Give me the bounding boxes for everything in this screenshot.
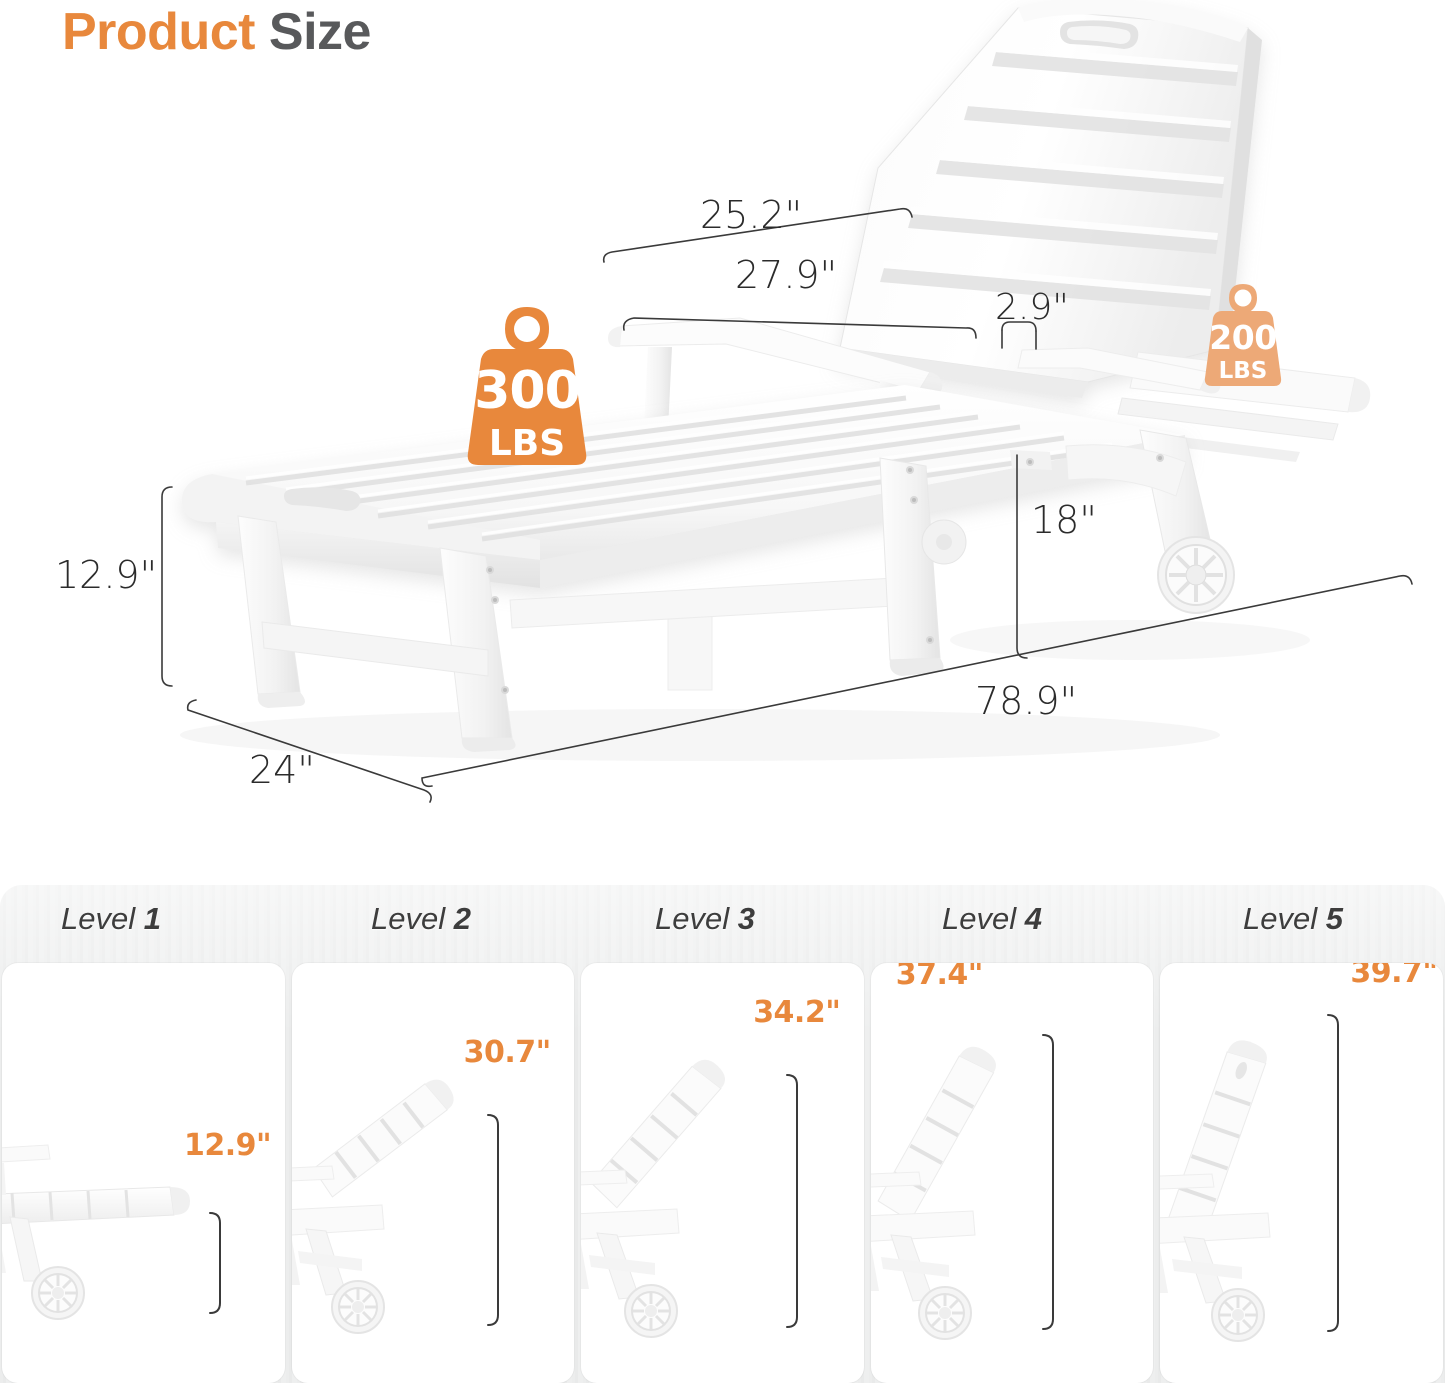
- weight-badge-number: 300: [466, 303, 588, 417]
- chaise-level-1-illustration: [2, 963, 285, 1383]
- recline-levels-card-row: 12.9": [0, 963, 1445, 1383]
- dimension-label-seat-width-lower: 27.9": [735, 253, 837, 297]
- level-card-5[interactable]: 39.7": [1160, 963, 1443, 1383]
- level-label-number: 4: [1025, 901, 1042, 936]
- dimension-label-slat-thickness: 2.9": [995, 287, 1069, 328]
- level-label-1: Level 1: [61, 901, 161, 937]
- level-label-4: Level 4: [942, 901, 1042, 937]
- level-label-prefix: Level: [1243, 901, 1317, 936]
- weight-capacity-badge-200: 200 LBS: [1204, 281, 1282, 391]
- level-label-prefix: Level: [942, 901, 1016, 936]
- level-card-4[interactable]: 37.4": [871, 963, 1154, 1383]
- level-height-label-4: 37.4": [896, 963, 983, 992]
- weight-badge-unit: LBS: [466, 417, 588, 462]
- chaise-level-2-illustration: [292, 963, 575, 1383]
- weight-badge-unit: LBS: [1204, 354, 1282, 383]
- level-label-number: 1: [144, 901, 161, 936]
- level-card-2[interactable]: 30.7": [292, 963, 575, 1383]
- product-size-diagram: 25.2" 27.9" 2.9" 18" 78.9" 12.9" 24" 300…: [0, 0, 1445, 860]
- weight-badge-number: 200: [1204, 281, 1282, 354]
- level-height-label-3: 34.2": [753, 995, 840, 1030]
- dimension-label-overall-length: 78.9": [975, 679, 1077, 723]
- level-label-2: Level 2: [371, 901, 471, 937]
- weight-capacity-badge-300: 300 LBS: [466, 303, 588, 473]
- chaise-lounge-illustration: [0, 0, 1445, 860]
- level-label-number: 5: [1326, 901, 1343, 936]
- recline-levels-label-row: Level 1 Level 2 Level 3 Level 4 Level 5: [0, 885, 1445, 963]
- level-label-3: Level 3: [655, 901, 755, 937]
- chaise-level-4-illustration: [871, 963, 1154, 1383]
- level-height-label-5: 39.7": [1350, 963, 1437, 990]
- dimension-label-seat-height: 18": [1031, 498, 1097, 542]
- level-label-prefix: Level: [61, 901, 135, 936]
- level-card-3[interactable]: 34.2": [581, 963, 864, 1383]
- level-height-label-1: 12.9": [184, 1128, 271, 1163]
- recline-levels-panel: Level 1 Level 2 Level 3 Level 4 Level 5: [0, 885, 1445, 1383]
- chaise-level-5-illustration: [1160, 963, 1443, 1383]
- backrest: [836, 0, 1262, 398]
- level-label-number: 3: [738, 901, 755, 936]
- dimension-label-seat-width-upper: 25.2": [700, 193, 802, 237]
- level-height-label-2: 30.7": [464, 1035, 551, 1070]
- level-label-prefix: Level: [655, 901, 729, 936]
- dimension-label-overall-depth: 24": [249, 748, 315, 792]
- seat-deck: [182, 385, 1185, 588]
- level-label-number: 2: [454, 901, 471, 936]
- wheel-icon: [1158, 537, 1234, 613]
- dimension-label-flat-height: 12.9": [55, 553, 157, 597]
- level-label-5: Level 5: [1243, 901, 1343, 937]
- level-label-prefix: Level: [371, 901, 445, 936]
- level-card-1[interactable]: 12.9": [2, 963, 285, 1383]
